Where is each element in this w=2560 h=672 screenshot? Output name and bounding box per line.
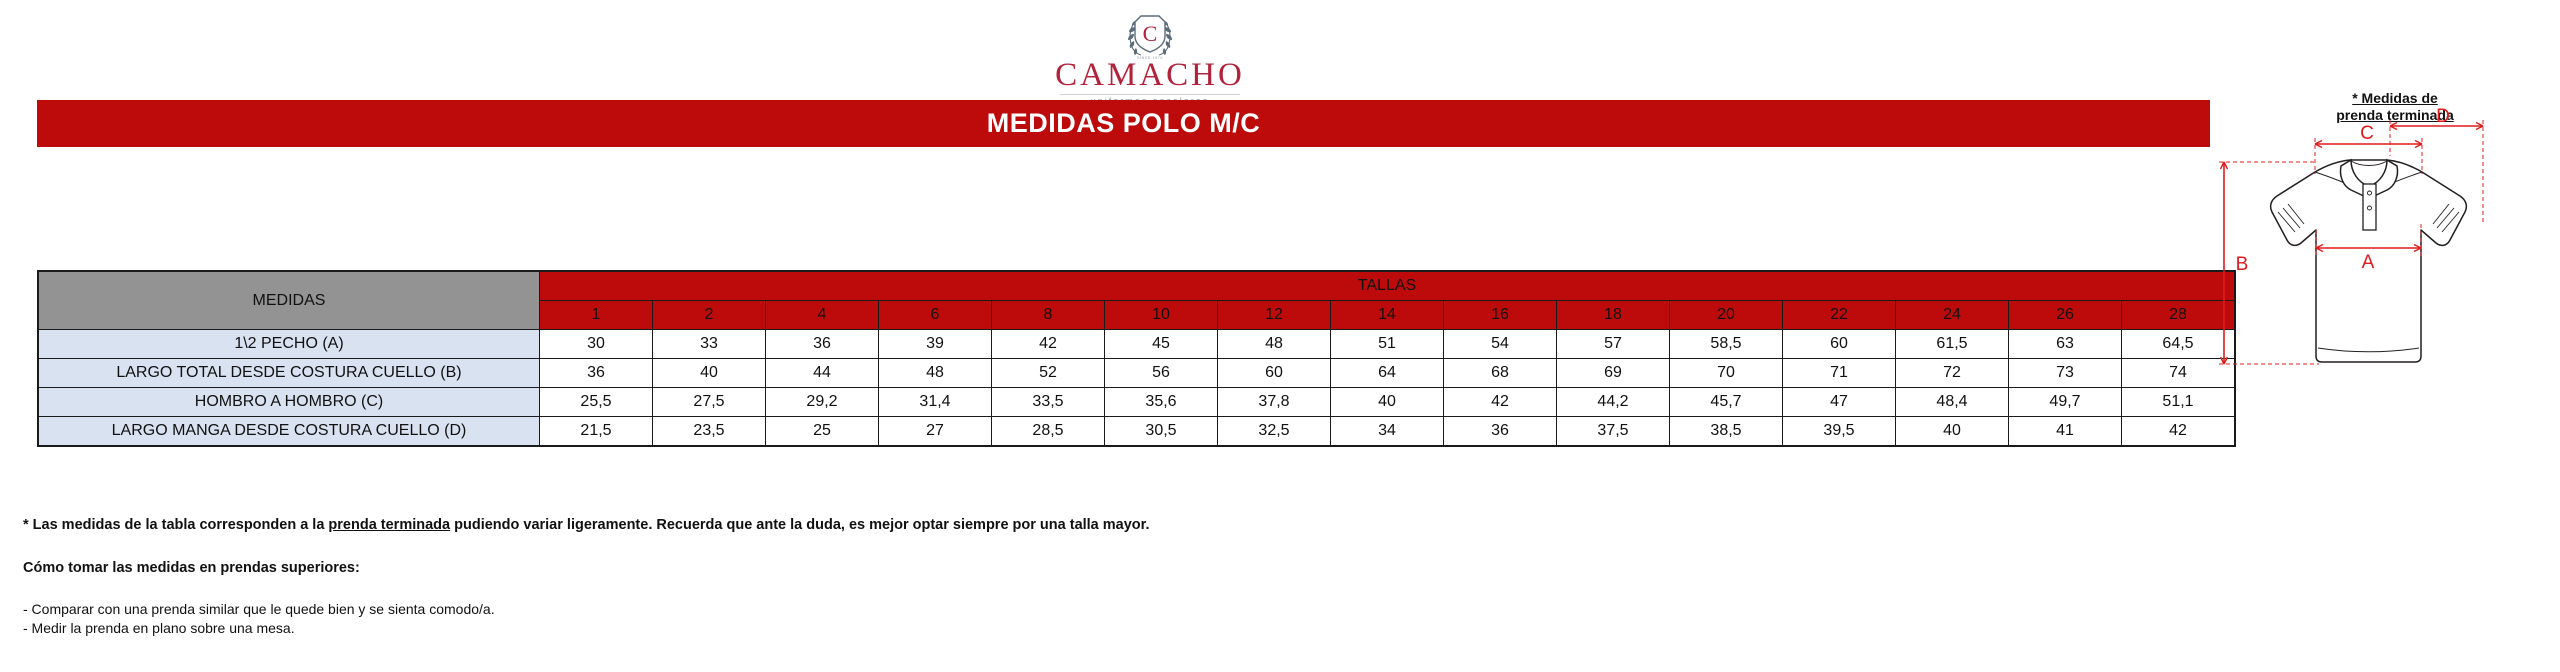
measure-value-cell: 27,5 bbox=[653, 388, 766, 417]
size-header-cell: 10 bbox=[1105, 301, 1218, 330]
size-header-cell: 14 bbox=[1331, 301, 1444, 330]
measure-value-cell: 58,5 bbox=[1670, 330, 1783, 359]
measure-value-cell: 42 bbox=[992, 330, 1105, 359]
laurel-crest-icon: C SINCE 1970 bbox=[1120, 8, 1180, 60]
measure-value-cell: 42 bbox=[1444, 388, 1557, 417]
measure-value-cell: 51 bbox=[1331, 330, 1444, 359]
measure-value-cell: 29,2 bbox=[766, 388, 879, 417]
measure-value-cell: 54 bbox=[1444, 330, 1557, 359]
size-header-cell: 26 bbox=[2009, 301, 2122, 330]
measure-value-cell: 35,6 bbox=[1105, 388, 1218, 417]
measure-value-cell: 45 bbox=[1105, 330, 1218, 359]
measure-value-cell: 70 bbox=[1670, 359, 1783, 388]
size-header-cell: 4 bbox=[766, 301, 879, 330]
measure-value-cell: 30 bbox=[540, 330, 653, 359]
measure-value-cell: 60 bbox=[1783, 330, 1896, 359]
measure-value-cell: 36 bbox=[540, 359, 653, 388]
measure-value-cell: 37,5 bbox=[1557, 417, 1670, 447]
diagram-label-a: A bbox=[2362, 252, 2375, 273]
measure-value-cell: 33 bbox=[653, 330, 766, 359]
measure-value-cell: 32,5 bbox=[1218, 417, 1331, 447]
brand-logo: C SINCE 1970 CAMACHO uniformes escolares bbox=[1040, 8, 1260, 94]
size-header-cell: 8 bbox=[992, 301, 1105, 330]
measure-value-cell: 57 bbox=[1557, 330, 1670, 359]
disclaimer-underlined: prenda terminada bbox=[328, 517, 450, 533]
howto-item: - Comparar con una prenda similar que le… bbox=[23, 600, 495, 619]
measure-value-cell: 44,2 bbox=[1557, 388, 1670, 417]
measure-value-cell: 41 bbox=[2009, 417, 2122, 447]
size-header-cell: 22 bbox=[1783, 301, 1896, 330]
size-chart-page: C SINCE 1970 CAMACHO uniformes escolares… bbox=[0, 0, 2560, 672]
brand-wordmark: CAMACHO bbox=[1040, 59, 1260, 92]
measure-value-cell: 25 bbox=[766, 417, 879, 447]
table-body: 1\2 PECHO (A)3033363942454851545758,5606… bbox=[38, 330, 2235, 447]
measure-value-cell: 21,5 bbox=[540, 417, 653, 447]
measure-value-cell: 52 bbox=[992, 359, 1105, 388]
crest-letter: C bbox=[1143, 21, 1158, 46]
page-title: MEDIDAS POLO M/C bbox=[987, 108, 1261, 139]
measure-value-cell: 31,4 bbox=[879, 388, 992, 417]
measure-value-cell: 60 bbox=[1218, 359, 1331, 388]
measure-value-cell: 40 bbox=[653, 359, 766, 388]
measure-value-cell: 47 bbox=[1783, 388, 1896, 417]
diagram-label-b: B bbox=[2236, 254, 2249, 275]
measures-column-header: MEDIDAS bbox=[38, 271, 540, 330]
measure-value-cell: 42 bbox=[2122, 417, 2236, 447]
polo-shirt-diagram-d-label: D bbox=[2215, 102, 2555, 132]
disclaimer-post: pudiendo variar ligeramente. Recuerda qu… bbox=[450, 517, 1149, 533]
measure-value-cell: 40 bbox=[1896, 417, 2009, 447]
measure-value-cell: 45,7 bbox=[1670, 388, 1783, 417]
size-header-cell: 6 bbox=[879, 301, 992, 330]
measure-value-cell: 71 bbox=[1783, 359, 1896, 388]
sizes-group-header: TALLAS bbox=[540, 271, 2236, 301]
measure-value-cell: 63 bbox=[2009, 330, 2122, 359]
size-header-cell: 12 bbox=[1218, 301, 1331, 330]
measure-label-cell: HOMBRO A HOMBRO (C) bbox=[38, 388, 540, 417]
measure-value-cell: 38,5 bbox=[1670, 417, 1783, 447]
size-header-cell: 2 bbox=[653, 301, 766, 330]
table-row: 1\2 PECHO (A)3033363942454851545758,5606… bbox=[38, 330, 2235, 359]
size-header-cell: 18 bbox=[1557, 301, 1670, 330]
size-table: MEDIDAS TALLAS 1246810121416182022242628… bbox=[37, 270, 2236, 447]
measure-value-cell: 27 bbox=[879, 417, 992, 447]
howto-item: - Medir la prenda en plano sobre una mes… bbox=[23, 619, 495, 638]
size-header-cell: 20 bbox=[1670, 301, 1783, 330]
measure-value-cell: 72 bbox=[1896, 359, 2009, 388]
brand-divider bbox=[1060, 94, 1240, 95]
measure-value-cell: 25,5 bbox=[540, 388, 653, 417]
measure-value-cell: 34 bbox=[1331, 417, 1444, 447]
measure-value-cell: 28,5 bbox=[992, 417, 1105, 447]
title-banner: MEDIDAS POLO M/C bbox=[37, 100, 2210, 147]
measure-label-cell: LARGO MANGA DESDE COSTURA CUELLO (D) bbox=[38, 417, 540, 447]
polo-shirt-diagram: A B C D bbox=[2215, 120, 2555, 380]
measure-value-cell: 73 bbox=[2009, 359, 2122, 388]
disclaimer-note: * Las medidas de la tabla corresponden a… bbox=[23, 517, 1150, 533]
howto-list: - Comparar con una prenda similar que le… bbox=[23, 600, 495, 638]
diagram-label-d-text: D bbox=[2436, 106, 2450, 127]
measure-value-cell: 36 bbox=[766, 330, 879, 359]
measure-value-cell: 30,5 bbox=[1105, 417, 1218, 447]
table-row: LARGO TOTAL DESDE COSTURA CUELLO (B)3640… bbox=[38, 359, 2235, 388]
table-head: MEDIDAS TALLAS 1246810121416182022242628 bbox=[38, 271, 2235, 330]
measure-value-cell: 48 bbox=[1218, 330, 1331, 359]
measure-value-cell: 69 bbox=[1557, 359, 1670, 388]
measure-value-cell: 23,5 bbox=[653, 417, 766, 447]
measure-value-cell: 39,5 bbox=[1783, 417, 1896, 447]
howto-title: Cómo tomar las medidas en prendas superi… bbox=[23, 560, 360, 576]
measure-value-cell: 39 bbox=[879, 330, 992, 359]
measure-value-cell: 56 bbox=[1105, 359, 1218, 388]
table-head-row-1: MEDIDAS TALLAS bbox=[38, 271, 2235, 301]
measure-value-cell: 48,4 bbox=[1896, 388, 2009, 417]
measure-value-cell: 36 bbox=[1444, 417, 1557, 447]
measure-value-cell: 61,5 bbox=[1896, 330, 2009, 359]
measure-label-cell: LARGO TOTAL DESDE COSTURA CUELLO (B) bbox=[38, 359, 540, 388]
measure-label-cell: 1\2 PECHO (A) bbox=[38, 330, 540, 359]
measure-value-cell: 49,7 bbox=[2009, 388, 2122, 417]
measure-value-cell: 37,8 bbox=[1218, 388, 1331, 417]
measure-value-cell: 33,5 bbox=[992, 388, 1105, 417]
measure-value-cell: 40 bbox=[1331, 388, 1444, 417]
size-table-container: MEDIDAS TALLAS 1246810121416182022242628… bbox=[37, 270, 2236, 447]
size-header-cell: 1 bbox=[540, 301, 653, 330]
table-row: LARGO MANGA DESDE COSTURA CUELLO (D)21,5… bbox=[38, 417, 2235, 447]
measure-value-cell: 48 bbox=[879, 359, 992, 388]
measure-value-cell: 44 bbox=[766, 359, 879, 388]
measure-value-cell: 68 bbox=[1444, 359, 1557, 388]
disclaimer-pre: * Las medidas de la tabla corresponden a… bbox=[23, 517, 328, 533]
table-row: HOMBRO A HOMBRO (C)25,527,529,231,433,53… bbox=[38, 388, 2235, 417]
measure-value-cell: 64 bbox=[1331, 359, 1444, 388]
size-header-cell: 24 bbox=[1896, 301, 2009, 330]
measure-value-cell: 51,1 bbox=[2122, 388, 2236, 417]
size-header-cell: 16 bbox=[1444, 301, 1557, 330]
